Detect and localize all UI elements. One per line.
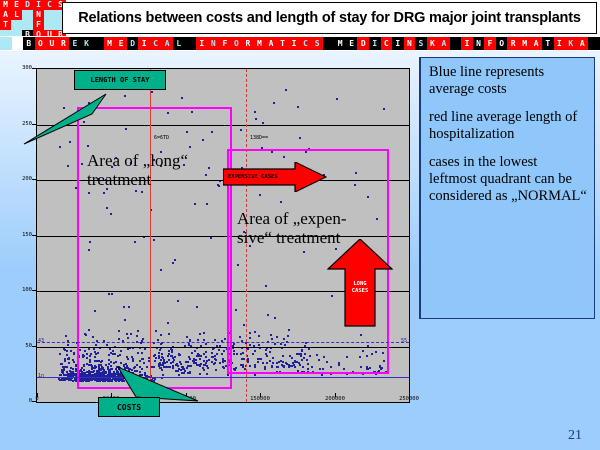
scatter-point bbox=[299, 137, 301, 139]
banner-cell: S bbox=[415, 37, 427, 50]
banner-cell: D bbox=[127, 37, 139, 50]
costs-callout: COSTS bbox=[98, 397, 160, 417]
scatter-point bbox=[60, 374, 62, 376]
banner-cell bbox=[450, 37, 462, 50]
logo-cell: F bbox=[33, 20, 44, 30]
scatter-point bbox=[255, 118, 257, 120]
logo-cell: T bbox=[0, 20, 11, 30]
x-axis-tick-mark bbox=[335, 393, 336, 397]
banner-cell bbox=[588, 37, 600, 50]
scatter-point bbox=[65, 335, 67, 337]
banner-cell bbox=[92, 37, 104, 50]
banner-cell: I bbox=[461, 37, 473, 50]
y-axis-tick-label: 0 bbox=[14, 398, 32, 404]
scatter-point bbox=[68, 358, 70, 360]
banner-cell: I bbox=[288, 37, 300, 50]
slide-title-box: Relations between costs and length of st… bbox=[62, 2, 597, 34]
logo-cell bbox=[44, 20, 55, 30]
banner-strip: BOUREKMEDICALINFORMATICSMEDICINSKAINFORM… bbox=[0, 36, 600, 51]
scatter-point bbox=[66, 354, 68, 356]
y-axis-tick-label: 150 bbox=[14, 232, 32, 238]
long-area-label-line2: treatment bbox=[87, 170, 237, 189]
scatter-point bbox=[66, 350, 68, 352]
banner-cell: E bbox=[69, 37, 81, 50]
banner-cell: L bbox=[173, 37, 185, 50]
banner-cell: I bbox=[392, 37, 404, 50]
scatter-point bbox=[71, 372, 73, 374]
scatter-point bbox=[63, 374, 65, 376]
logo-cell: N bbox=[33, 10, 44, 20]
logo-cell: A bbox=[0, 10, 11, 20]
explanation-panel: Blue line represents average costs red l… bbox=[419, 57, 595, 319]
banner-cell: N bbox=[208, 37, 220, 50]
logo-cell bbox=[44, 10, 55, 20]
banner-cell: A bbox=[438, 37, 450, 50]
scatter-point bbox=[58, 378, 60, 380]
banner-cell: N bbox=[473, 37, 485, 50]
length-of-stay-pointer bbox=[22, 88, 114, 146]
avg-cost-line bbox=[150, 69, 151, 402]
long-area-label-line1: Area of „long“ bbox=[87, 151, 237, 170]
length-of-stay-callout: LENGTH OF STAY bbox=[74, 70, 166, 90]
scatter-point bbox=[73, 374, 75, 376]
banner-cell: T bbox=[542, 37, 554, 50]
scatter-point bbox=[73, 353, 75, 355]
scatter-point bbox=[285, 89, 287, 91]
banner-cell: R bbox=[242, 37, 254, 50]
avg-los-label: 1n bbox=[38, 373, 44, 379]
long-cases-arrow-label-line1: LONG bbox=[331, 281, 389, 288]
banner-cell: K bbox=[427, 37, 439, 50]
banner-cell: T bbox=[277, 37, 289, 50]
scatter-point bbox=[68, 362, 70, 364]
banner-cell bbox=[185, 37, 197, 50]
banner-cell: C bbox=[381, 37, 393, 50]
scatter-point bbox=[67, 344, 69, 346]
y-axis-tick-mark bbox=[32, 346, 36, 347]
logo-cell bbox=[11, 20, 22, 30]
banner-cell: F bbox=[219, 37, 231, 50]
costs-callout-label: COSTS bbox=[117, 403, 141, 412]
logo-cell: I bbox=[33, 0, 44, 10]
los-threshold-label-right: 55 bbox=[401, 338, 407, 344]
length-of-stay-callout-label: LENGTH OF STAY bbox=[90, 76, 149, 84]
expensive-cases-arrow-label: EXPENSIVE CASES bbox=[228, 174, 278, 180]
banner-cell: M bbox=[519, 37, 531, 50]
banner-cell: S bbox=[311, 37, 323, 50]
y-axis-tick-mark bbox=[32, 290, 36, 291]
y-axis-tick-mark bbox=[32, 235, 36, 236]
scatter-point bbox=[68, 379, 70, 381]
scatter-point bbox=[151, 91, 153, 93]
page-number: 21 bbox=[568, 428, 582, 444]
los-threshold-label-left: 43 bbox=[38, 338, 44, 344]
scatter-point bbox=[70, 367, 72, 369]
scatter-point bbox=[181, 97, 183, 99]
long-treatment-rect bbox=[77, 107, 232, 389]
scatter-point bbox=[262, 122, 264, 124]
banner-cell: O bbox=[35, 37, 47, 50]
y-axis-tick-label: 100 bbox=[14, 287, 32, 293]
scatter-point bbox=[321, 374, 323, 376]
y-axis-tick-mark bbox=[32, 68, 36, 69]
scatter-point bbox=[66, 366, 68, 368]
banner-cell: I bbox=[369, 37, 381, 50]
banner-cell bbox=[0, 37, 12, 50]
scatter-point bbox=[63, 369, 65, 371]
banner-cell bbox=[323, 37, 335, 50]
logo-cell: E bbox=[11, 0, 22, 10]
y-axis-tick-label: 50 bbox=[14, 343, 32, 349]
banner-cell: I bbox=[196, 37, 208, 50]
scatter-point bbox=[254, 111, 256, 113]
scatter-point bbox=[72, 368, 74, 370]
scatter-point bbox=[336, 98, 338, 100]
banner-cell: M bbox=[104, 37, 116, 50]
logo-cell bbox=[22, 10, 33, 20]
header-bar: MEDICSALNTFBOUR Relations between costs … bbox=[0, 0, 600, 36]
banner-cell: K bbox=[81, 37, 93, 50]
scatter-point bbox=[64, 360, 66, 362]
scatter-point bbox=[59, 146, 61, 148]
y-axis-tick-label: 300 bbox=[14, 65, 32, 71]
scatter-point bbox=[63, 348, 65, 350]
banner-cell: R bbox=[58, 37, 70, 50]
logo-cell bbox=[22, 20, 33, 30]
scatter-point bbox=[124, 95, 126, 97]
logo-cell: L bbox=[11, 10, 22, 20]
scatter-point bbox=[68, 373, 70, 375]
banner-cell: N bbox=[404, 37, 416, 50]
scatter-chart: 6=6TD 138D== 43 55 1n Area of „long“ tre… bbox=[14, 58, 414, 413]
banner-cell: C bbox=[150, 37, 162, 50]
logo-cell: M bbox=[0, 0, 11, 10]
scatter-point bbox=[72, 380, 74, 382]
banner-cell: E bbox=[115, 37, 127, 50]
scatter-point bbox=[60, 363, 62, 365]
logo-cell: D bbox=[22, 0, 33, 10]
y-axis-tick-mark bbox=[32, 179, 36, 180]
scatter-point bbox=[254, 374, 256, 376]
page-title: Relations between costs and length of st… bbox=[78, 10, 580, 26]
scatter-point bbox=[59, 353, 61, 355]
banner-cell: U bbox=[46, 37, 58, 50]
scatter-point bbox=[64, 358, 66, 360]
explanation-paragraph-2: red line average length of hospitalizati… bbox=[429, 109, 588, 143]
banner-cell: M bbox=[254, 37, 266, 50]
banner-cell: E bbox=[346, 37, 358, 50]
scatter-point bbox=[67, 165, 69, 167]
banner-cell: I bbox=[138, 37, 150, 50]
banner-cell: R bbox=[507, 37, 519, 50]
scatter-point bbox=[61, 371, 63, 373]
x-axis-tick-mark bbox=[260, 393, 261, 397]
scatter-point bbox=[70, 350, 72, 352]
banner-cell: A bbox=[161, 37, 173, 50]
y-axis-tick-label: 200 bbox=[14, 176, 32, 182]
long-area-label: Area of „long“ treatment bbox=[87, 151, 237, 189]
banner-cell: M bbox=[334, 37, 346, 50]
long-cases-arrow-label-line2: CASES bbox=[331, 288, 389, 295]
expensive-area-label-line1: Area of „expen- bbox=[237, 209, 397, 228]
scatter-point bbox=[297, 106, 299, 108]
banner-cell: F bbox=[484, 37, 496, 50]
cost-threshold-line-label: 138D== bbox=[250, 135, 268, 141]
scatter-point bbox=[273, 102, 275, 104]
banner-cell bbox=[12, 37, 24, 50]
banner-cell: D bbox=[357, 37, 369, 50]
explanation-paragraph-3: cases in the lowest leftmost quadrant ca… bbox=[429, 154, 588, 205]
los-threshold-line bbox=[37, 342, 409, 343]
long-cases-arrow-label: LONG CASES bbox=[331, 281, 389, 295]
scatter-point bbox=[64, 379, 66, 381]
logo-cell: C bbox=[44, 0, 55, 10]
banner-cell: A bbox=[530, 37, 542, 50]
scatter-point bbox=[383, 108, 385, 110]
x-axis-tick-mark bbox=[409, 393, 410, 397]
explanation-paragraph-1: Blue line represents average costs bbox=[429, 64, 588, 98]
scatter-point bbox=[73, 361, 75, 363]
banner-cell: O bbox=[231, 37, 243, 50]
scatter-point bbox=[240, 129, 242, 131]
banner-cell: A bbox=[577, 37, 589, 50]
banner-cell: C bbox=[300, 37, 312, 50]
avg-cost-line-label: 6=6TD bbox=[154, 135, 169, 141]
banner-cell: K bbox=[565, 37, 577, 50]
x-axis-tick-mark bbox=[37, 393, 38, 397]
banner-cell: O bbox=[496, 37, 508, 50]
banner-cell: A bbox=[265, 37, 277, 50]
scatter-point bbox=[64, 366, 66, 368]
scatter-point bbox=[61, 378, 63, 380]
banner-cell: I bbox=[554, 37, 566, 50]
avg-los-line bbox=[37, 377, 409, 378]
banner-cell: B bbox=[23, 37, 35, 50]
